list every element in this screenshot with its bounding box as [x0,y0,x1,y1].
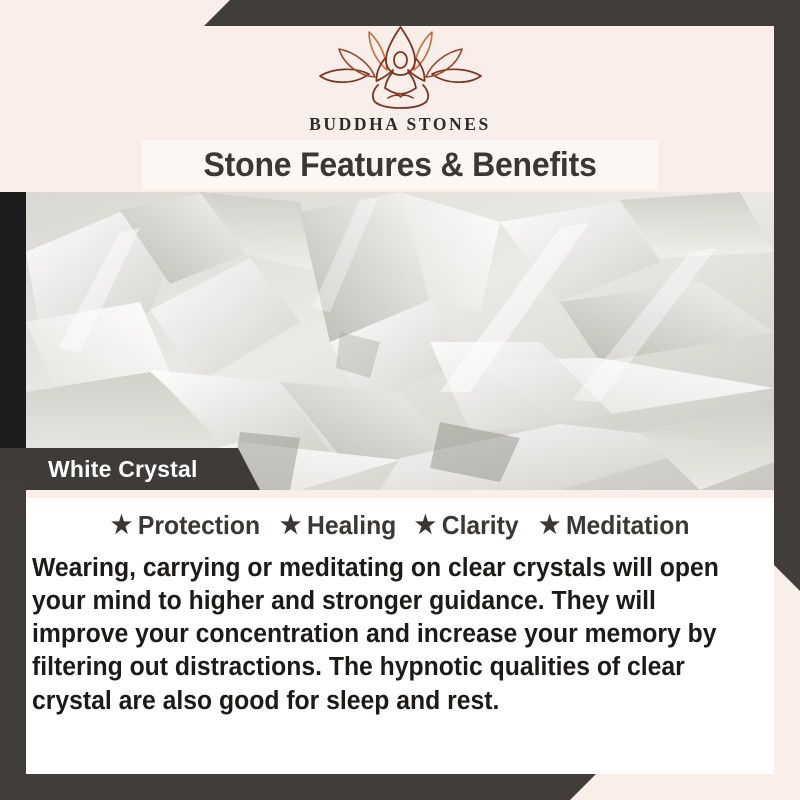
lotus-meditation-icon [313,24,488,110]
stone-name-label: White Crystal [0,456,198,483]
frame-accent-bottom-left [0,774,800,800]
panel-top-divider [26,490,774,498]
benefit-label: Protection [138,510,260,541]
brand-name: BUDDHA STONES [309,114,491,135]
brand-lockup: BUDDHA STONES [0,24,800,135]
star-icon: ★ [280,513,301,538]
star-icon: ★ [539,513,560,538]
benefit-label: Meditation [566,510,690,541]
content-panel: ★ Protection ★ Healing ★ Clarity ★ Medit… [26,490,774,774]
benefit-label: Healing [307,510,396,541]
crystal-photo: White Crystal [0,192,800,490]
benefits-list: ★ Protection ★ Healing ★ Clarity ★ Medit… [26,510,774,541]
stone-info-poster: BUDDHA STONES Stone Features & Benefits [0,0,800,800]
frame-accent-right [774,26,800,591]
benefit-item-meditation: ★ Meditation [539,510,690,541]
benefit-item-healing: ★ Healing [280,510,396,541]
photo-caption-banner: White Crystal [0,448,260,490]
benefit-label: Clarity [442,510,519,541]
star-icon: ★ [415,513,436,538]
benefit-item-clarity: ★ Clarity [415,510,519,541]
page-title: Stone Features & Benefits [203,146,596,185]
benefit-item-protection: ★ Protection [111,510,260,541]
description-text: Wearing, carrying or meditating on clear… [32,552,746,718]
frame-accent-left [0,485,26,774]
page-title-band: Stone Features & Benefits [142,140,658,190]
star-icon: ★ [111,513,132,538]
